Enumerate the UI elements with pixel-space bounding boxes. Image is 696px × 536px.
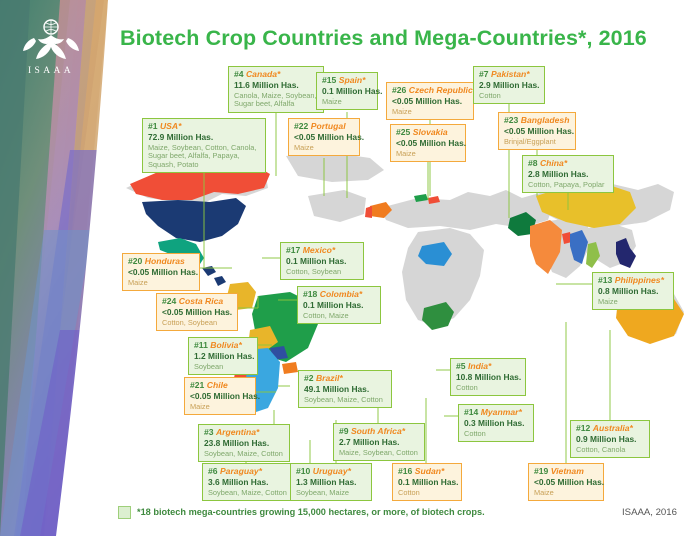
country-label-portugal[interactable]: #22 Portugal<0.05 Million Has.Maize — [288, 118, 360, 156]
country-label-slovakia[interactable]: #25 Slovakia<0.05 Million Has.Maize — [390, 124, 466, 162]
label-area: 0.3 Million Has. — [464, 419, 529, 428]
country-uruguay — [282, 362, 298, 374]
label-crops: Soybean, Maize, Cotton — [304, 396, 387, 404]
label-rank-and-country: #14 Myanmar* — [464, 408, 529, 418]
country-label-mexico[interactable]: #17 Mexico*0.1 Million Has.Cotton, Soybe… — [280, 242, 364, 280]
label-area: 11.6 Million Has. — [234, 81, 319, 90]
country-label-colombia[interactable]: #18 Colombia*0.1 Million Has.Cotton, Mai… — [297, 286, 381, 324]
label-area: 3.6 Million Has. — [208, 478, 289, 487]
label-area: 2.8 Million Has. — [528, 170, 609, 179]
infographic-canvas: ISAAA Biotech Crop Countries and Mega-Co… — [0, 0, 696, 536]
country-label-india[interactable]: #5 India*10.8 Million Has.Cotton — [450, 358, 526, 396]
label-area: 10.8 Million Has. — [456, 373, 521, 382]
label-area: 0.1 Million Has. — [286, 257, 359, 266]
label-crops: Maize — [190, 403, 251, 411]
label-crops: Cotton — [398, 489, 457, 497]
label-crops: Maize — [392, 108, 469, 116]
isaaa-logo: ISAAA — [8, 18, 94, 84]
label-rank-and-country: #17 Mexico* — [286, 246, 359, 256]
country-label-brazil[interactable]: #2 Brazil*49.1 Million Has.Soybean, Maiz… — [298, 370, 392, 408]
label-rank-and-country: #16 Sudan* — [398, 467, 457, 477]
country-label-sudan[interactable]: #16 Sudan*0.1 Million Has.Cotton — [392, 463, 462, 501]
label-crops: Cotton — [464, 430, 529, 438]
label-rank-and-country: #26 Czech Republic — [392, 86, 469, 96]
label-crops: Maize — [294, 144, 355, 152]
label-area: 0.8 Million Has. — [598, 287, 669, 296]
label-crops: Maize — [322, 98, 373, 106]
label-area: <0.05 Million Has. — [294, 133, 355, 142]
label-rank-and-country: #5 India* — [456, 362, 521, 372]
label-crops: Maize — [534, 489, 599, 497]
label-crops: Maize — [598, 298, 669, 306]
label-area: 0.1 Million Has. — [398, 478, 457, 487]
page-title: Biotech Crop Countries and Mega-Countrie… — [120, 26, 647, 51]
label-rank-and-country: #23 Bangladesh — [504, 116, 571, 126]
legend-swatch-icon — [118, 506, 131, 519]
isaaa-leaf-globe-icon — [8, 18, 94, 64]
country-label-bolivia[interactable]: #11 Bolivia*1.2 Million Has.Soybean — [188, 337, 258, 375]
label-area: <0.05 Million Has. — [396, 139, 461, 148]
label-area: 49.1 Million Has. — [304, 385, 387, 394]
label-area: 1.2 Million Has. — [194, 352, 253, 361]
label-rank-and-country: #2 Brazil* — [304, 374, 387, 384]
country-label-czech-republic[interactable]: #26 Czech Republic<0.05 Million Has.Maiz… — [386, 82, 474, 120]
country-label-canada[interactable]: #4 Canada*11.6 Million Has.Canola, Maize… — [228, 66, 324, 113]
legend-note: *18 biotech mega-countries growing 15,00… — [137, 507, 485, 517]
label-area: <0.05 Million Has. — [392, 97, 469, 106]
label-rank-and-country: #12 Australia* — [576, 424, 645, 434]
label-rank-and-country: #19 Vietnam — [534, 467, 599, 477]
label-crops: Canola, Maize, Soybean,Sugar beet, Alfal… — [234, 92, 319, 109]
label-area: <0.05 Million Has. — [504, 127, 571, 136]
label-crops: Soybean, Maize, Cotton — [208, 489, 289, 497]
country-label-argentina[interactable]: #3 Argentina*23.8 Million Has.Soybean, M… — [198, 424, 290, 462]
country-label-spain[interactable]: #15 Spain*0.1 Million Has.Maize — [316, 72, 378, 110]
label-area: 23.8 Million Has. — [204, 439, 285, 448]
label-area: 1.3 Million Has. — [296, 478, 367, 487]
label-rank-and-country: #21 Chile — [190, 381, 251, 391]
country-costa-rica — [214, 276, 226, 286]
label-area: 2.9 Million Has. — [479, 81, 540, 90]
country-label-usa[interactable]: #1 USA*72.9 Million Has.Maize, Soybean, … — [142, 118, 266, 173]
country-label-uruguay[interactable]: #10 Uruguay*1.3 Million Has.Soybean, Mai… — [290, 463, 372, 501]
label-crops: Maize, Soybean, Cotton, Canola,Sugar bee… — [148, 144, 261, 169]
label-crops: Soybean, Maize — [296, 489, 367, 497]
label-rank-and-country: #10 Uruguay* — [296, 467, 367, 477]
label-rank-and-country: #15 Spain* — [322, 76, 373, 86]
label-crops: Cotton, Canola — [576, 446, 645, 454]
country-label-costa-rica[interactable]: #24 Costa Rica<0.05 Million Has.Cotton, … — [156, 293, 238, 331]
country-label-honduras[interactable]: #20 Honduras<0.05 Million Has.Maize — [122, 253, 200, 291]
country-label-pakistan[interactable]: #7 Pakistan*2.9 Million Has.Cotton — [473, 66, 545, 104]
label-rank-and-country: #9 South Africa* — [339, 427, 420, 437]
label-crops: Soybean — [194, 363, 253, 371]
label-crops: Cotton, Papaya, Poplar — [528, 181, 609, 189]
label-rank-and-country: #11 Bolivia* — [194, 341, 253, 351]
label-rank-and-country: #13 Philippines* — [598, 276, 669, 286]
country-usa — [142, 198, 246, 242]
label-area: <0.05 Million Has. — [128, 268, 195, 277]
label-rank-and-country: #3 Argentina* — [204, 428, 285, 438]
label-area: 0.1 Million Has. — [303, 301, 376, 310]
country-label-vietnam[interactable]: #19 Vietnam<0.05 Million Has.Maize — [528, 463, 604, 501]
country-label-paraguay[interactable]: #6 Paraguay*3.6 Million Has.Soybean, Mai… — [202, 463, 294, 501]
label-rank-and-country: #25 Slovakia — [396, 128, 461, 138]
country-label-chile[interactable]: #21 Chile<0.05 Million Has.Maize — [184, 377, 256, 415]
country-label-bangladesh[interactable]: #23 Bangladesh<0.05 Million Has.Brinjal/… — [498, 112, 576, 150]
label-area: <0.05 Million Has. — [190, 392, 251, 401]
label-area: <0.05 Million Has. — [534, 478, 599, 487]
country-label-philippines[interactable]: #13 Philippines*0.8 Million Has.Maize — [592, 272, 674, 310]
country-label-south-africa[interactable]: #9 South Africa*2.7 Million Has.Maize, S… — [333, 423, 425, 461]
label-rank-and-country: #4 Canada* — [234, 70, 319, 80]
country-label-australia[interactable]: #12 Australia*0.9 Million Has.Cotton, Ca… — [570, 420, 650, 458]
label-crops: Cotton, Soybean — [286, 268, 359, 276]
label-crops: Soybean, Maize, Cotton — [204, 450, 285, 458]
label-crops: Cotton — [456, 384, 521, 392]
label-rank-and-country: #18 Colombia* — [303, 290, 376, 300]
label-area: <0.05 Million Has. — [162, 308, 233, 317]
label-rank-and-country: #7 Pakistan* — [479, 70, 540, 80]
country-label-china[interactable]: #8 China*2.8 Million Has.Cotton, Papaya,… — [522, 155, 614, 193]
country-honduras — [202, 266, 216, 276]
label-rank-and-country: #8 China* — [528, 159, 609, 169]
label-crops: Maize — [396, 150, 461, 158]
label-area: 0.9 Million Has. — [576, 435, 645, 444]
label-crops: Maize, Soybean, Cotton — [339, 449, 420, 457]
label-rank-and-country: #20 Honduras — [128, 257, 195, 267]
label-area: 0.1 Million Has. — [322, 87, 373, 96]
label-area: 2.7 Million Has. — [339, 438, 420, 447]
country-portugal — [365, 206, 372, 218]
label-rank-and-country: #22 Portugal — [294, 122, 355, 132]
country-label-myanmar[interactable]: #14 Myanmar*0.3 Million Has.Cotton — [458, 404, 534, 442]
label-crops: Cotton, Maize — [303, 312, 376, 320]
logo-wordmark: ISAAA — [8, 66, 94, 76]
label-rank-and-country: #6 Paraguay* — [208, 467, 289, 477]
label-crops: Cotton — [479, 92, 540, 100]
label-area: 72.9 Million Has. — [148, 133, 261, 142]
label-crops: Maize — [128, 279, 195, 287]
label-rank-and-country: #24 Costa Rica — [162, 297, 233, 307]
label-crops: Cotton, Soybean — [162, 319, 233, 327]
label-rank-and-country: #1 USA* — [148, 122, 261, 132]
label-crops: Brinjal/Eggplant — [504, 138, 571, 146]
source-credit: ISAAA, 2016 — [622, 507, 677, 518]
